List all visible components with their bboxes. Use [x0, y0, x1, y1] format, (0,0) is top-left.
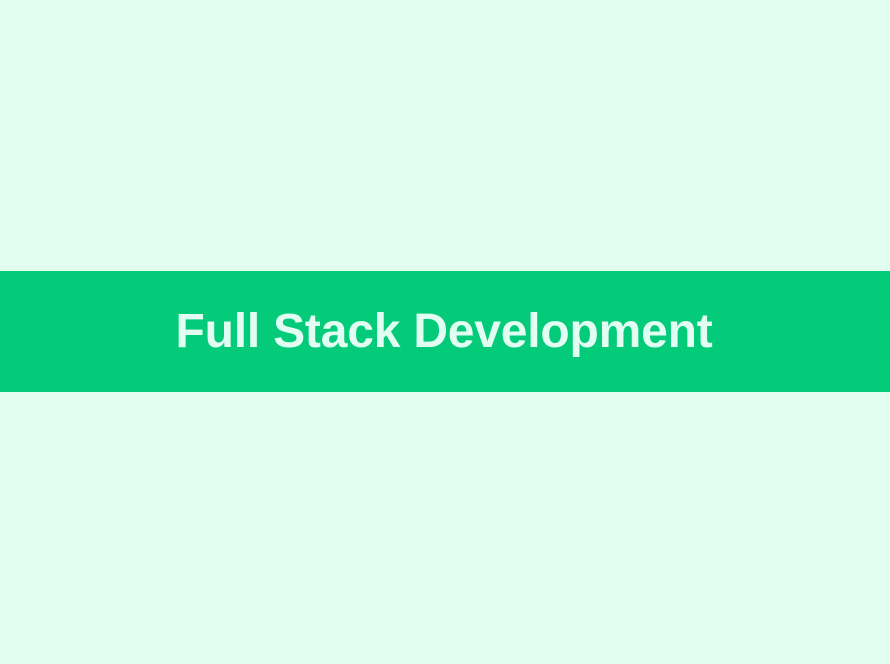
- banner-canvas: Full Stack Development: [0, 0, 890, 664]
- green-banner-bar: Full Stack Development: [0, 271, 890, 392]
- page-title: Full Stack Development: [0, 271, 890, 392]
